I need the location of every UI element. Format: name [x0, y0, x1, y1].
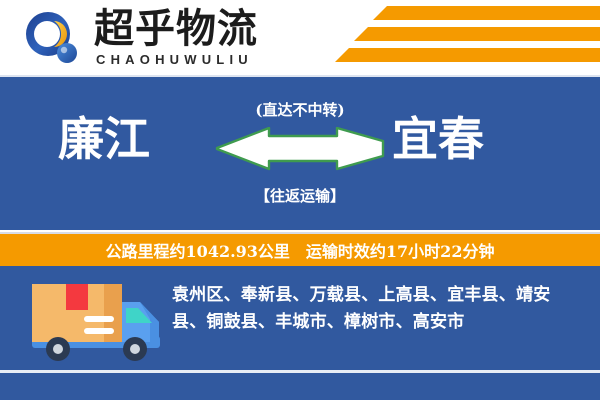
circular-q-crescent-logo	[24, 10, 82, 66]
coverage-panel: 袁州区、奉新县、万载县、上高县、宜丰县、靖安县、铜鼓县、丰城市、樟树市、高安市	[0, 266, 600, 370]
logistics-route-card: 超乎物流 CHAOHUWULIU 廉江 (直达不中转) 【往返运输】 宜春 公路…	[0, 0, 600, 400]
header: 超乎物流 CHAOHUWULIU	[0, 0, 600, 75]
route-panel: 廉江 (直达不中转) 【往返运输】 宜春	[0, 75, 600, 230]
bidirectional-arrow-icon	[215, 127, 385, 179]
orange-speed-stripes-icon	[335, 6, 600, 68]
delivery-truck-icon	[28, 274, 168, 366]
brand-name-en: CHAOHUWULIU	[96, 52, 253, 67]
distance-and-duration-text: 公路里程约1042.93公里 运输时效约17小时22分钟	[106, 238, 495, 262]
route-info-bar: 公路里程约1042.93公里 运输时效约17小时22分钟	[0, 232, 600, 268]
footer-panel	[0, 373, 600, 400]
brand-name-cn: 超乎物流	[94, 7, 258, 51]
direct-route-note: (直达不中转)	[0, 99, 600, 120]
destination-city: 宜春	[392, 111, 484, 167]
coverage-areas-text: 袁州区、奉新县、万载县、上高县、宜丰县、靖安县、铜鼓县、丰城市、樟树市、高安市	[172, 282, 580, 336]
round-trip-note: 【往返运输】	[0, 185, 600, 206]
